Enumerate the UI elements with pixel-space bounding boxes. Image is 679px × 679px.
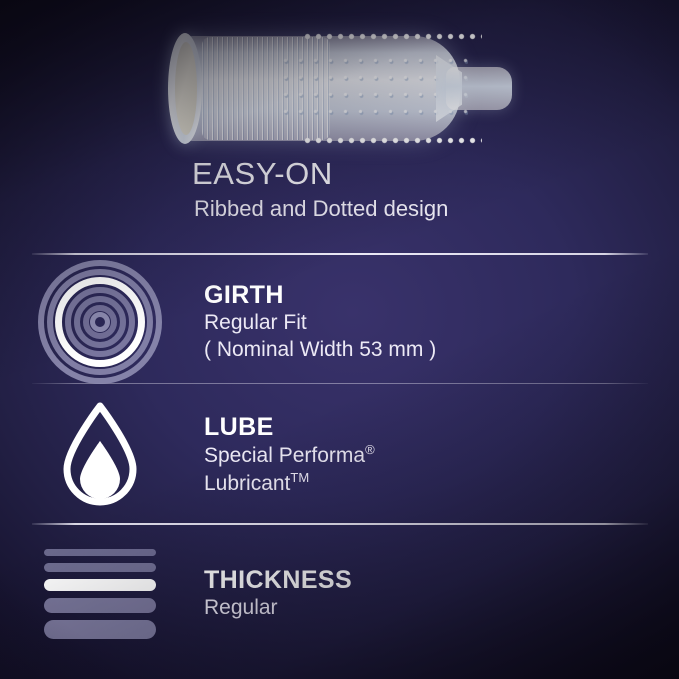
bottom-edge-bumps bbox=[302, 137, 482, 144]
concentric-rings-icon bbox=[44, 266, 156, 378]
feature-row-girth: GIRTH Regular Fit ( Nominal Width 53 mm … bbox=[0, 266, 679, 378]
girth-text: GIRTH Regular Fit ( Nominal Width 53 mm … bbox=[200, 281, 436, 363]
lube-title: LUBE bbox=[204, 413, 375, 442]
thickness-icon-cell bbox=[0, 549, 200, 639]
thickness-bar-5 bbox=[44, 620, 156, 639]
divider-3 bbox=[32, 523, 648, 525]
thickness-bar-3 bbox=[44, 579, 156, 591]
ring-core bbox=[90, 312, 110, 332]
page-title: EASY-ON bbox=[192, 156, 333, 192]
product-body bbox=[182, 36, 460, 141]
girth-title: GIRTH bbox=[204, 281, 436, 310]
lube-icon-cell bbox=[0, 399, 200, 511]
feature-row-thickness: THICKNESS Regular bbox=[0, 534, 679, 654]
thickness-bar-2 bbox=[44, 563, 156, 572]
hero-section: EASY-ON Ribbed and Dotted design bbox=[0, 0, 679, 248]
thickness-bars-icon bbox=[39, 549, 161, 639]
feature-row-lube: LUBE Special Performa® LubricantTM bbox=[0, 396, 679, 514]
product-infographic: EASY-ON Ribbed and Dotted design GIRTH R… bbox=[0, 0, 679, 679]
girth-line-1: Regular Fit bbox=[204, 310, 436, 336]
registered-mark: ® bbox=[365, 442, 375, 457]
girth-icon-cell bbox=[0, 266, 200, 378]
page-subtitle: Ribbed and Dotted design bbox=[194, 196, 448, 222]
thickness-bar-4 bbox=[44, 598, 156, 613]
lube-text: LUBE Special Performa® LubricantTM bbox=[200, 413, 375, 497]
product-rim-opening bbox=[175, 42, 197, 135]
thickness-title: THICKNESS bbox=[204, 566, 352, 595]
product-image bbox=[168, 36, 513, 141]
divider-1 bbox=[32, 253, 648, 255]
thickness-bar-1 bbox=[44, 549, 156, 556]
girth-line-2: ( Nominal Width 53 mm ) bbox=[204, 337, 436, 363]
lube-line-2-text: Lubricant bbox=[204, 472, 290, 495]
divider-2 bbox=[32, 383, 648, 384]
thickness-text: THICKNESS Regular bbox=[200, 566, 352, 621]
trademark-mark: TM bbox=[290, 470, 309, 485]
top-edge-bumps bbox=[302, 33, 482, 40]
water-drop-icon bbox=[52, 399, 148, 511]
reservoir-tip bbox=[446, 67, 512, 110]
product-rim bbox=[168, 33, 202, 144]
lube-line-1: Special Performa® bbox=[204, 442, 375, 469]
lube-line-2: LubricantTM bbox=[204, 470, 375, 497]
thickness-line-1: Regular bbox=[204, 595, 352, 621]
lube-line-1-text: Special Performa bbox=[204, 444, 365, 467]
